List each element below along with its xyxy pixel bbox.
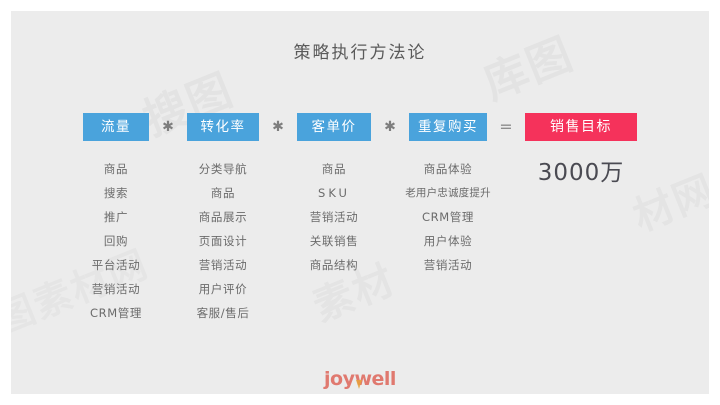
list-item: 推广	[64, 205, 168, 229]
detail-column-sales-goal: 3000万	[506, 157, 656, 325]
formula-row: 流量 ✱ 转化率 ✱ 客单价 ✱ 重复购买 = 销售目标	[11, 112, 709, 142]
detail-column-repurchase: 商品体验 老用户忠诚度提升 CRM管理 用户体验 营销活动	[390, 157, 506, 325]
detail-columns: 商品 搜索 推广 回购 平台活动 营销活动 CRM管理 分类导航 商品 商品展示…	[11, 157, 709, 325]
result-chip-sales-goal[interactable]: 销售目标	[525, 113, 637, 141]
detail-column-conversion: 分类导航 商品 商品展示 页面设计 营销活动 用户评价 客服/售后	[168, 157, 278, 325]
list-item: 平台活动	[64, 253, 168, 277]
list-item: 页面设计	[168, 229, 278, 253]
list-item: 营销活动	[278, 205, 390, 229]
list-item: 用户体验	[390, 229, 506, 253]
sales-goal-value: 3000万	[506, 157, 656, 188]
list-item: CRM管理	[64, 301, 168, 325]
brand-logo-text: joywell	[324, 368, 396, 390]
list-item: 商品	[278, 157, 390, 181]
equals-operator-icon: =	[487, 113, 525, 141]
slide-title: 策略执行方法论	[11, 38, 709, 63]
list-item: 分类导航	[168, 157, 278, 181]
list-item: 用户评价	[168, 277, 278, 301]
list-item: 关联销售	[278, 229, 390, 253]
list-item: 商品展示	[168, 205, 278, 229]
factor-chip-repurchase[interactable]: 重复购买	[409, 113, 487, 141]
list-item: CRM管理	[390, 205, 506, 229]
list-item: 营销活动	[390, 253, 506, 277]
list-item: 客服/售后	[168, 301, 278, 325]
list-item: 商品体验	[390, 157, 506, 181]
slide-canvas: 搜图 库图 素材 材网 图素材网 策略执行方法论 流量 ✱ 转化率 ✱ 客单价 …	[11, 11, 709, 394]
brand-accent-icon	[356, 380, 362, 389]
list-item: 营销活动	[64, 277, 168, 301]
list-item: 商品	[64, 157, 168, 181]
list-item: 搜索	[64, 181, 168, 205]
factor-chip-aov[interactable]: 客单价	[297, 113, 371, 141]
list-item: 商品	[168, 181, 278, 205]
factor-chip-traffic[interactable]: 流量	[83, 113, 149, 141]
watermark-text: 库图	[472, 18, 581, 112]
factor-chip-conversion[interactable]: 转化率	[187, 113, 259, 141]
list-item: 商品结构	[278, 253, 390, 277]
list-item: 回购	[64, 229, 168, 253]
brand-logo: joywell	[11, 368, 709, 390]
list-item: SKU	[278, 181, 390, 205]
detail-column-aov: 商品 SKU 营销活动 关联销售 商品结构	[278, 157, 390, 325]
detail-column-traffic: 商品 搜索 推广 回购 平台活动 营销活动 CRM管理	[64, 157, 168, 325]
multiply-operator-icon: ✱	[259, 113, 297, 141]
list-item: 营销活动	[168, 253, 278, 277]
multiply-operator-icon: ✱	[371, 113, 409, 141]
list-item: 老用户忠诚度提升	[390, 181, 506, 205]
multiply-operator-icon: ✱	[149, 113, 187, 141]
